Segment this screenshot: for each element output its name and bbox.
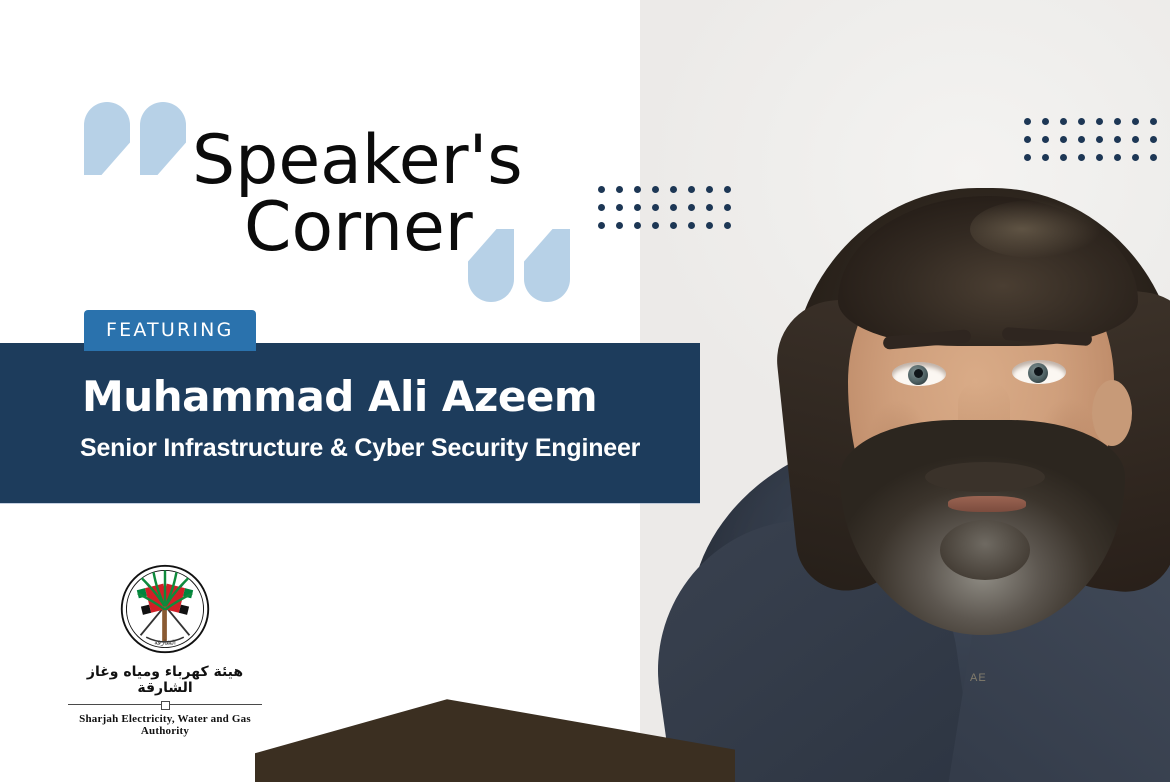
sweater-brand-text: AE	[970, 672, 987, 684]
decorative-dot	[1024, 154, 1031, 161]
quote-tail	[84, 125, 130, 175]
desk-table	[255, 692, 735, 782]
dot-cell	[1036, 148, 1054, 166]
left-pupil	[914, 369, 923, 378]
decorative-dot	[1114, 118, 1121, 125]
dot-cell	[1018, 148, 1036, 166]
desk-top-surface	[255, 692, 735, 782]
sewa-english-name: Sharjah Electricity, Water and Gas Autho…	[60, 713, 270, 737]
dot-cell	[1108, 112, 1126, 130]
decorative-dot	[1024, 118, 1031, 125]
decorative-dot	[1024, 136, 1031, 143]
dot-cell	[1072, 112, 1090, 130]
dot-cell	[1018, 130, 1036, 148]
decorative-dot	[1042, 136, 1049, 143]
open-quote-icon	[84, 102, 188, 198]
decorative-dot	[1042, 154, 1049, 161]
page-title: Speaker's Corner	[192, 128, 752, 261]
decorative-dot	[1060, 136, 1067, 143]
dot-cell	[1126, 148, 1144, 166]
dot-cell	[1108, 148, 1126, 166]
open-quote-glyph-2	[140, 102, 186, 198]
featuring-badge: FEATURING	[84, 310, 256, 351]
dot-cell	[1072, 148, 1090, 166]
dot-cell	[1126, 130, 1144, 148]
decorative-dot	[1150, 118, 1157, 125]
dot-cell	[1144, 148, 1162, 166]
decorative-dot	[1132, 136, 1139, 143]
decorative-dot	[1078, 118, 1085, 125]
sewa-emblem-icon: الشارقة	[118, 562, 212, 656]
decorative-dot	[1096, 136, 1103, 143]
open-quote-glyph-1	[84, 102, 130, 198]
decorative-dot	[1060, 154, 1067, 161]
decorative-dot	[1060, 118, 1067, 125]
dot-cell	[1036, 112, 1054, 130]
decorative-dot	[1078, 136, 1085, 143]
quote-tail	[140, 125, 186, 175]
sewa-arabic-name: هيئة كهرباء ومياه وغاز الشارقة	[60, 664, 270, 696]
decorative-dot	[1150, 154, 1157, 161]
chin-beard-patch	[940, 520, 1030, 580]
dot-cell	[1126, 112, 1144, 130]
decorative-dot	[1096, 118, 1103, 125]
decorative-dot	[1132, 118, 1139, 125]
dot-cell	[1072, 130, 1090, 148]
speaker-name-banner: Muhammad Ali Azeem Senior Infrastructure…	[0, 343, 700, 503]
dot-grid-top-right	[1018, 112, 1162, 166]
right-pupil	[1034, 367, 1043, 376]
dot-cell	[1144, 112, 1162, 130]
hair-highlight	[970, 200, 1100, 258]
decorative-dot	[1132, 154, 1139, 161]
dot-cell	[1054, 148, 1072, 166]
speakers-corner-poster: AE	[0, 0, 1170, 782]
dot-cell	[1054, 112, 1072, 130]
sewa-logo-block: الشارقة هيئة كهرباء ومياه وغاز الشارقة S…	[60, 562, 270, 737]
dot-cell	[1108, 130, 1126, 148]
decorative-dot	[1114, 136, 1121, 143]
dot-cell	[1144, 130, 1162, 148]
decorative-dot	[1150, 136, 1157, 143]
right-eye	[1012, 360, 1066, 384]
decorative-dot	[1114, 154, 1121, 161]
dot-cell	[1036, 130, 1054, 148]
svg-text:الشارقة: الشارقة	[154, 639, 176, 647]
title-line-2: Corner	[244, 195, 752, 262]
mouth-shape	[948, 496, 1026, 512]
speaker-name: Muhammad Ali Azeem	[82, 372, 597, 421]
moustache-shape	[925, 462, 1045, 492]
decorative-dot	[1078, 154, 1085, 161]
right-ear-shape	[1092, 380, 1132, 446]
speaker-role: Senior Infrastructure & Cyber Security E…	[80, 434, 640, 463]
dot-cell	[1054, 130, 1072, 148]
dot-cell	[1090, 130, 1108, 148]
decorative-dot	[1096, 154, 1103, 161]
dot-cell	[1090, 148, 1108, 166]
decorative-dot	[1042, 118, 1049, 125]
left-eye	[892, 362, 946, 386]
dot-cell	[1090, 112, 1108, 130]
dot-cell	[1018, 112, 1036, 130]
logo-divider-rule	[68, 700, 262, 708]
